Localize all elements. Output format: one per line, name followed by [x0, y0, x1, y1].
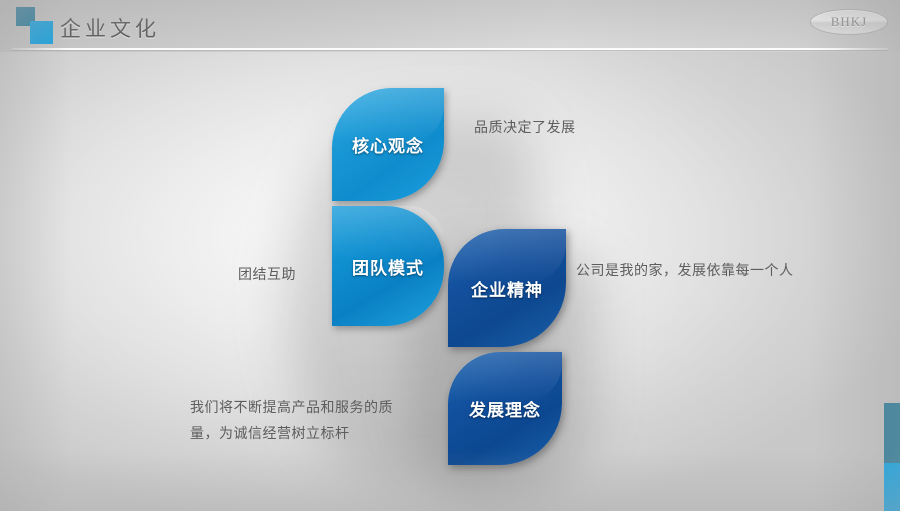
brand-logo: BHKJ: [810, 9, 888, 35]
header-square-bright-icon: [30, 21, 53, 44]
diagram-node-team-label: 团队模式: [352, 254, 424, 279]
header-divider-shadow: [12, 50, 888, 51]
diagram-node-spirit-label: 企业精神: [471, 276, 543, 301]
logo-label: BHKJ: [810, 9, 888, 35]
note-development: 我们将不断提高产品和服务的质 量，为诚信经营树立标杆: [190, 395, 430, 447]
note-family: 公司是我的家，发展依靠每一个人: [576, 258, 794, 284]
slide-canvas: 企业文化 BHKJ 核心观念 团队模式 企业精神 发展理念 品质决定了发展 团结…: [0, 0, 900, 511]
edge-accent-bar-top: [884, 403, 900, 463]
edge-accent-bar-bottom: [884, 463, 900, 511]
diagram-node-core-label: 核心观念: [352, 132, 424, 157]
note-unity: 团结互助: [238, 262, 296, 288]
page-title: 企业文化: [60, 13, 160, 43]
node-gloss-overlay: [332, 206, 444, 259]
diagram-node-team[interactable]: 团队模式: [332, 206, 444, 326]
note-quality: 品质决定了发展: [474, 115, 576, 141]
slide-header: 企业文化 BHKJ: [0, 0, 900, 52]
diagram-node-development-label: 发展理念: [469, 396, 541, 421]
